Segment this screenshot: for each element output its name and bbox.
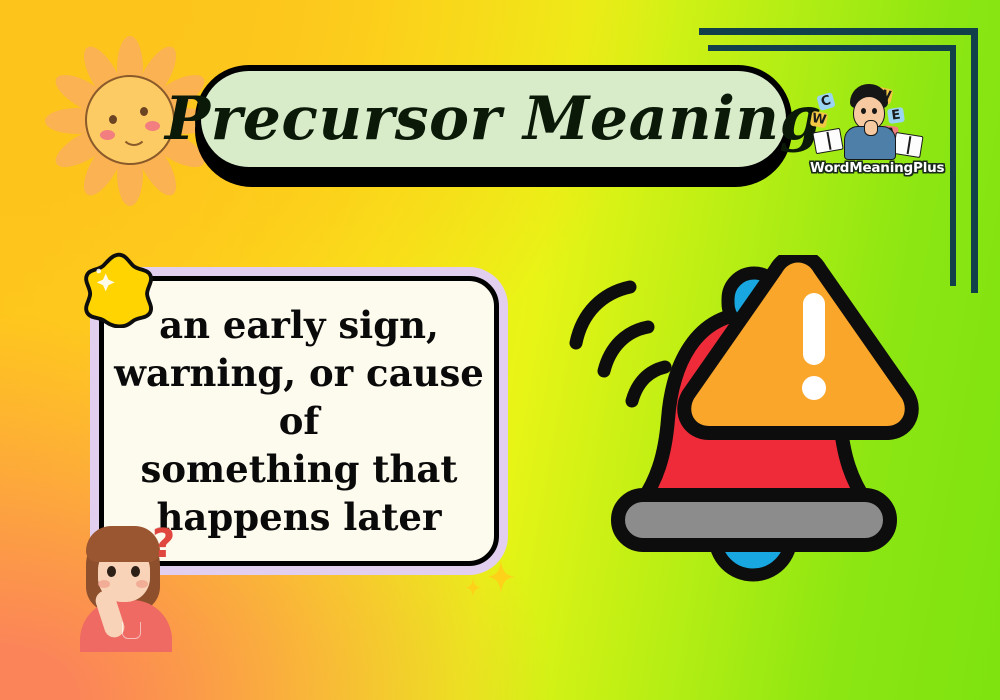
thinking-man-icon bbox=[842, 84, 898, 160]
title-banner: Precursor Meaning bbox=[195, 65, 792, 187]
question-mark: ? bbox=[152, 524, 175, 564]
definition-line: warning, or cause of bbox=[114, 349, 484, 445]
sparkle-icon bbox=[465, 578, 481, 598]
page-title: Precursor Meaning bbox=[165, 84, 822, 154]
sound-wave-icon bbox=[576, 287, 665, 401]
brand-logo[interactable]: C W W E A WordMeaningPlus bbox=[810, 78, 928, 174]
logo-caption: WordMeaningPlus bbox=[810, 160, 928, 176]
thinking-girl-icon: ? bbox=[74, 524, 192, 644]
sparkle-star-icon bbox=[80, 250, 158, 328]
logo-letter: W bbox=[810, 111, 828, 129]
title-banner-body: Precursor Meaning bbox=[195, 65, 792, 173]
warning-triangle-icon bbox=[684, 256, 912, 434]
sun-face bbox=[85, 75, 175, 165]
logo-letter: C bbox=[816, 92, 836, 111]
definition-line: something that bbox=[114, 445, 484, 493]
sparkle-icon bbox=[487, 560, 515, 592]
definition-text: an early sign, warning, or cause of some… bbox=[104, 301, 494, 541]
definition-line: an early sign, bbox=[114, 301, 484, 349]
alarm-bell-with-warning-illustration bbox=[568, 255, 940, 595]
poster-canvas: Precursor Meaning C W W E A WordMeaningP… bbox=[0, 0, 1000, 700]
